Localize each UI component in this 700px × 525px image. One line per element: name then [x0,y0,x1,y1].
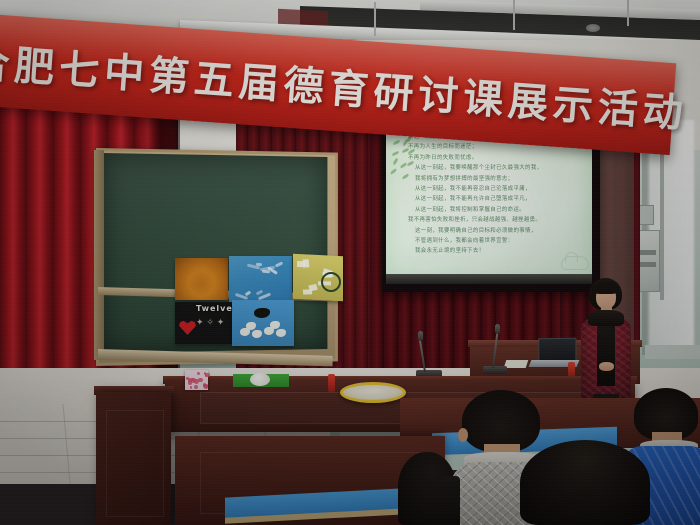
poster-note-strip [308,284,317,291]
pattern-dot [197,372,200,375]
poster-bird-shape [270,321,280,329]
pattern-dot [190,386,193,389]
poster-streak [262,270,270,274]
student-long-hair [520,440,650,525]
pink-patterned-box[interactable] [185,370,208,390]
poster-bird-shape [246,322,256,330]
slide-line: 我会永无止境的坚持下去！ [408,246,582,256]
presenter-inner-top [597,322,615,386]
poster-decorative-marks: ✦ ✧ ✦ [196,318,232,332]
poster-streak [256,263,262,266]
slide-line: 从这一刻起，我将控制和掌握自己的命运。 [408,205,582,215]
poster-note-strip [302,259,309,267]
heart-icon [179,320,196,335]
presenter-fur-collar [588,310,624,326]
slide-line: 这一刻，我要明确自己的目标和必须做的事情， [408,226,582,236]
hanger-wire [627,0,629,26]
poster-bird-shape [276,329,286,337]
microphone-icon[interactable] [495,324,500,334]
poster-dark-shape [254,308,270,318]
cloud-decoration-icon [561,256,589,270]
leaf-icon [393,140,401,145]
microphone-icon[interactable] [418,331,423,341]
slide-body-text: 从这一刻起，我将塑造一个崭新的我。不再为人生的目标而迷茫；不再为昨日的失败而忧虑… [408,132,582,257]
hanger-wire [513,0,515,30]
slide-line: 不管遇到什么，我都会向着世界宣誓： [408,236,582,246]
yellow-rimmed-plate[interactable] [340,382,406,403]
pattern-dot [186,377,188,379]
poster-streak [245,291,251,297]
ceiling-light-fixture [586,24,600,32]
leaf-icon [400,163,408,169]
classroom-photo-scene: Twelve ✦ ✧ ✦ 我们的人生宣言 从这一刻起，我将塑造一个崭新的我。不再… [0,0,700,525]
hanger-wire [374,2,376,36]
poster-bird-shape [252,330,262,338]
paper-sheet [504,360,529,368]
student-arm [436,476,460,525]
poster-orange-mountain [175,258,228,300]
screen-bottom-bar [386,274,592,284]
poster-twelve-label: Twelve [196,304,232,316]
window-sill [645,345,700,359]
pattern-dot [194,385,198,389]
slide-line: 从这一刻起，我要唤醒那个尘封已久最强大的我， [408,163,582,173]
leaf-icon [392,151,400,156]
podium-left-panel [106,410,164,517]
wall-conduit [660,150,664,300]
poster-circle-shape [321,272,341,292]
poster-blue-landscape [229,256,292,302]
slide-line: 从这一刻起，我不能再允许自己堕落成平凡， [408,194,582,204]
slide-line: 我将拥有为梦想拼搏的最坚强的意志； [408,174,582,184]
student-hair [520,440,650,525]
microphone-base [483,366,507,374]
slide-line: 从这一刻起，我不能再容忍自己沦落成平庸， [408,184,582,194]
presenter-hands [599,362,614,371]
slide-line: 我不再害怕失败和挫折，只会越战越强、越挫越勇。 [408,215,582,225]
leaf-icon [392,157,399,164]
poster-blue-birds [232,300,294,346]
slide-line: 不再为昨日的失败而忧虑。 [408,153,582,163]
blackboard-side-rail [94,150,104,360]
leaf-icon [390,169,398,175]
presenter-fringe [592,282,619,294]
red-bottle[interactable] [328,374,335,392]
white-object[interactable] [250,373,270,386]
pattern-dot [198,378,202,382]
poster-streak [275,262,283,268]
student-ear [458,428,468,442]
pattern-dot [203,384,207,388]
